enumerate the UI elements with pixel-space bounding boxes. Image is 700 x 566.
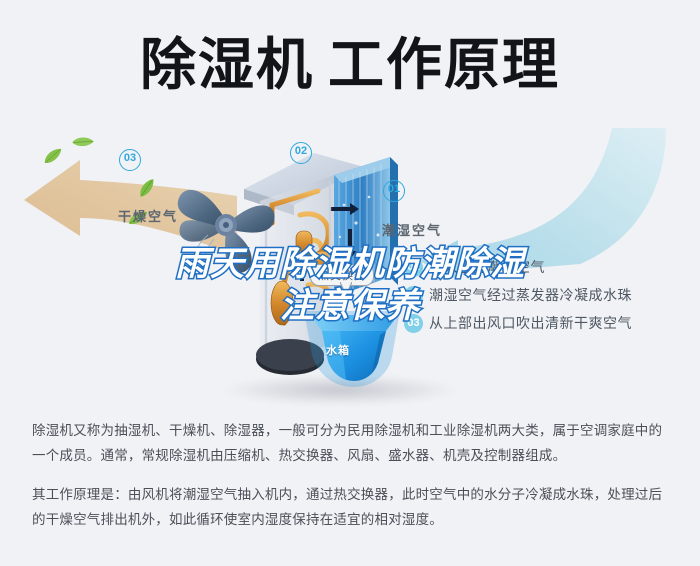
step-badge-02: 02 (404, 286, 423, 305)
fan-icon (166, 170, 286, 280)
list-item: 01 吸入室内潮湿空气 (404, 253, 700, 281)
diagram-badge-01: 01 (383, 180, 405, 202)
callout-tail-icon (340, 282, 352, 296)
leaf-icon (71, 133, 96, 152)
step-badge-01: 01 (404, 258, 423, 277)
water-tank-icon (300, 305, 410, 390)
dry-air-label: 干燥空气 (118, 206, 178, 225)
paragraph-1: 除湿机又称为抽湿机、干燥机、除湿器，一般可分为民用除湿机和工业除湿机两大类，属于… (32, 418, 672, 468)
step-text-02: 潮湿空气经过蒸发器冷凝成水珠 (429, 285, 632, 305)
paragraph-2: 其工作原理是：由风机将潮湿空气抽入机内，通过热交换器，此时空气中的水分子冷凝成水… (32, 482, 672, 532)
heat-exchanger-callout: 热交换器 (310, 264, 374, 286)
step-text-01: 吸入室内潮湿空气 (429, 257, 545, 277)
diagram-badge-02: 02 (290, 142, 312, 164)
list-item: 03 从上部出风口吹出清新干爽空气 (404, 309, 700, 337)
title-part-1: 除湿机 (140, 33, 314, 96)
page-root: 除湿机工作原理 (0, 0, 700, 566)
step-text-03: 从上部出风口吹出清新干爽空气 (429, 313, 632, 333)
steps-list: 01 吸入室内潮湿空气 02 潮湿空气经过蒸发器冷凝成水珠 03 从上部出风口吹… (404, 253, 700, 337)
title-part-2: 工作原理 (328, 33, 560, 96)
water-tank-label: 水箱 (326, 342, 350, 358)
article-body: 除湿机又称为抽湿机、干燥机、除湿器，一般可分为民用除湿机和工业除湿机两大类，属于… (32, 418, 672, 546)
humid-air-label: 潮湿空气 (382, 220, 442, 239)
list-item: 02 潮湿空气经过蒸发器冷凝成水珠 (404, 281, 700, 309)
diagram-badge-03: 03 (119, 149, 141, 171)
step-badge-03: 03 (404, 314, 423, 333)
page-title: 除湿机工作原理 (0, 20, 700, 110)
